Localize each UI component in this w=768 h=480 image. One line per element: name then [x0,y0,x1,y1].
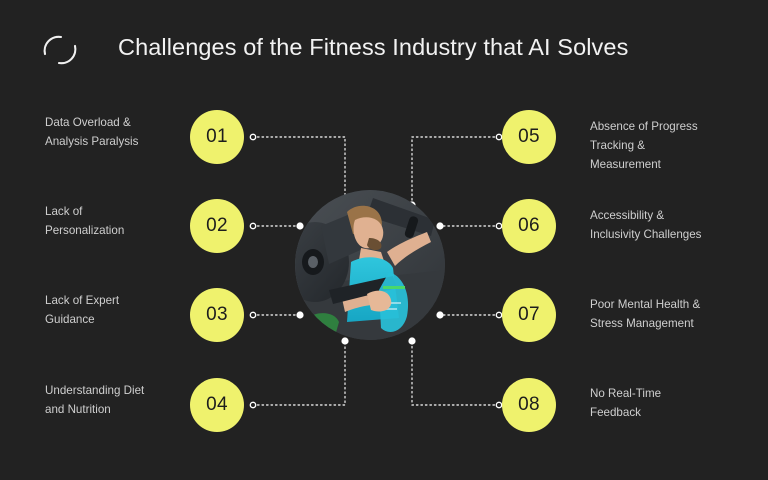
number-circle-01[interactable]: 01 [190,110,244,164]
label-line: Absence of Progress [590,118,755,137]
number-circle-06[interactable]: 06 [502,199,556,253]
number-circle-07[interactable]: 07 [502,288,556,342]
label-line: Accessibility & [590,207,755,226]
item-label-03: Lack of Expert Guidance [45,292,195,330]
label-line: Personalization [45,222,195,241]
label-line: Measurement [590,156,755,175]
label-line: Guidance [45,311,195,330]
label-line: Poor Mental Health & [590,296,755,315]
item-label-01: Data Overload & Analysis Paralysis [45,114,195,152]
item-label-04: Understanding Diet and Nutrition [45,382,195,420]
label-line: and Nutrition [45,401,195,420]
label-line: Understanding Diet [45,382,195,401]
number-circle-02[interactable]: 02 [190,199,244,253]
item-label-05: Absence of Progress Tracking & Measureme… [590,118,755,174]
item-label-06: Accessibility & Inclusivity Challenges [590,207,755,245]
label-line: Inclusivity Challenges [590,226,755,245]
label-line: Data Overload & [45,114,195,133]
item-label-02: Lack of Personalization [45,203,195,241]
label-line: Analysis Paralysis [45,133,195,152]
label-line: Stress Management [590,315,755,334]
number-circle-05[interactable]: 05 [502,110,556,164]
number-circle-03[interactable]: 03 [190,288,244,342]
number-circle-08[interactable]: 08 [502,378,556,432]
label-line: Tracking & [590,137,755,156]
label-line: No Real-Time [590,385,755,404]
item-label-07: Poor Mental Health & Stress Management [590,296,755,334]
number-circle-04[interactable]: 04 [190,378,244,432]
item-label-08: No Real-Time Feedback [590,385,755,423]
infographic-slide: Challenges of the Fitness Industry that … [0,0,768,480]
label-line: Lack of [45,203,195,222]
label-line: Lack of Expert [45,292,195,311]
center-photo [295,190,445,340]
label-line: Feedback [590,404,755,423]
